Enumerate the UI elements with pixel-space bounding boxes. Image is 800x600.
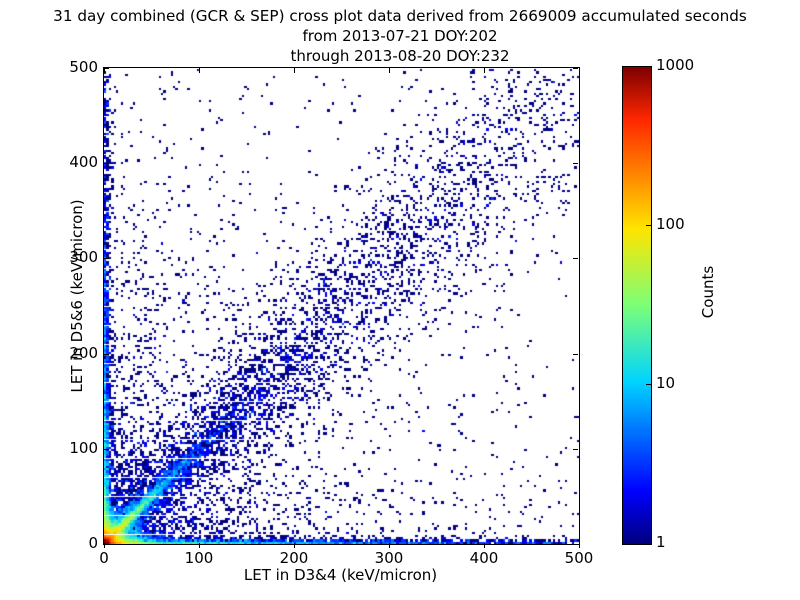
y-ticklabel-500: 500 [28, 58, 98, 76]
y-tick-100 [104, 449, 109, 450]
colorbar-gradient [623, 67, 651, 544]
x-tick-top-200 [294, 68, 295, 73]
colorbar-ticklabel-100: 100 [656, 215, 685, 233]
y-tick-0 [104, 544, 109, 545]
y-tick-right-400 [573, 163, 578, 164]
figure-canvas: 31 day combined (GCR & SEP) cross plot d… [0, 0, 800, 600]
x-tick-300 [389, 543, 390, 548]
y-tick-right-200 [573, 354, 578, 355]
y-tick-right-100 [573, 449, 578, 450]
plot-area [103, 67, 580, 545]
x-ticklabel-100: 100 [164, 549, 234, 567]
y-tick-right-0 [573, 544, 578, 545]
y-tick-400 [104, 163, 109, 164]
colorbar-ticklabel-1: 1 [656, 533, 666, 551]
x-tick-top-300 [389, 68, 390, 73]
y-ticklabel-300: 300 [28, 248, 98, 266]
y-tick-500 [104, 68, 109, 69]
title-line-1: 31 day combined (GCR & SEP) cross plot d… [0, 6, 800, 26]
y-tick-right-500 [573, 68, 578, 69]
colorbar-ticklabel-10: 10 [656, 374, 675, 392]
y-tick-300 [104, 258, 109, 259]
colorbar-tick-100 [646, 225, 651, 226]
y-ticklabel-400: 400 [28, 153, 98, 171]
colorbar-ticklabel-1000: 1000 [656, 56, 694, 74]
y-ticklabel-100: 100 [28, 439, 98, 457]
x-ticklabel-300: 300 [354, 549, 424, 567]
x-ticklabel-200: 200 [259, 549, 329, 567]
colorbar [622, 66, 652, 545]
y-ticklabel-0: 0 [28, 534, 98, 552]
x-tick-100 [199, 543, 200, 548]
y-tick-200 [104, 354, 109, 355]
title-line-2: from 2013-07-21 DOY:202 [0, 26, 800, 46]
x-ticklabel-500: 500 [544, 549, 614, 567]
x-tick-200 [294, 543, 295, 548]
colorbar-tick-10 [646, 384, 651, 385]
x-tick-400 [484, 543, 485, 548]
y-axis-label: LET in D5&6 (keV/micron) [68, 58, 86, 534]
colorbar-label: Counts [699, 182, 717, 402]
x-tick-top-100 [199, 68, 200, 73]
y-tick-right-300 [573, 258, 578, 259]
x-ticklabel-400: 400 [449, 549, 519, 567]
x-tick-top-400 [484, 68, 485, 73]
y-ticklabel-200: 200 [28, 344, 98, 362]
x-axis-label: LET in D3&4 (keV/micron) [103, 566, 578, 584]
x-tick-top-500 [579, 68, 580, 73]
density-heatmap [104, 68, 579, 544]
x-tick-500 [579, 543, 580, 548]
